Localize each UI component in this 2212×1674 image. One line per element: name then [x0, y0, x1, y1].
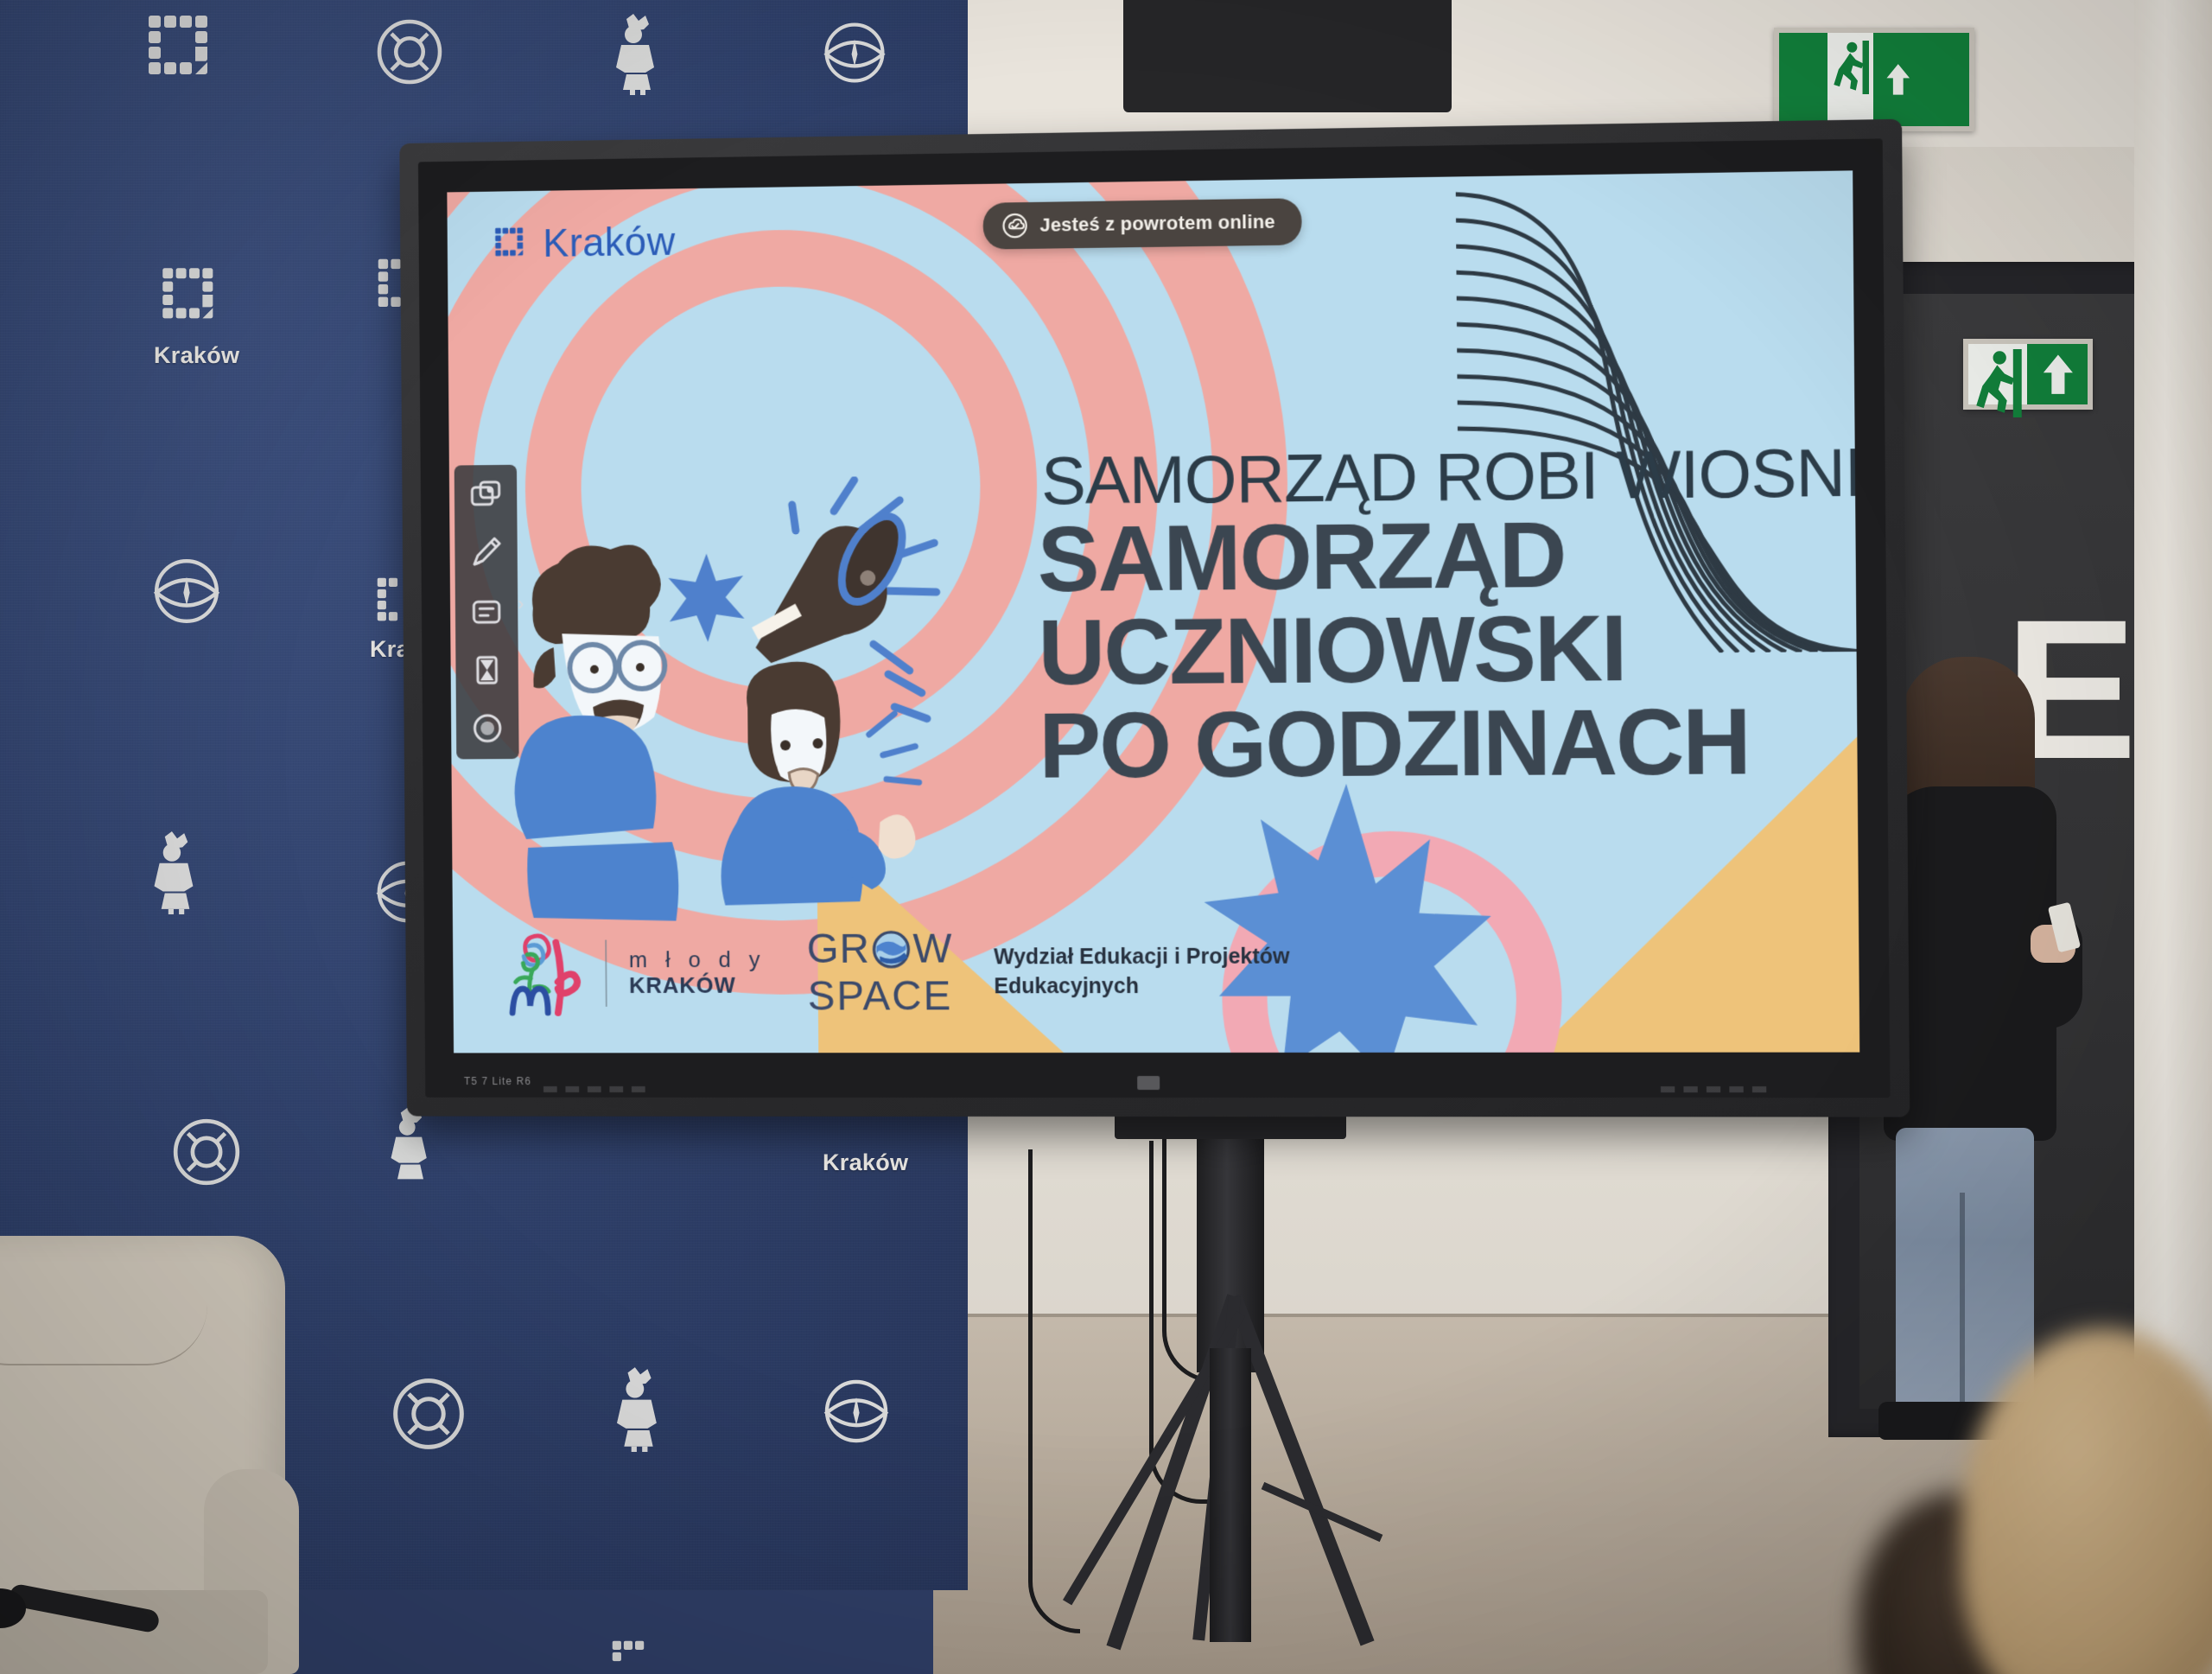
mlody-line: m ł o d y [629, 947, 766, 973]
exit-sign-running-man-panel [1827, 33, 1873, 126]
running-man-icon [1973, 349, 2022, 417]
display-model-label: T5 7 Lite R6 [464, 1075, 531, 1087]
armchair-seam [0, 1305, 207, 1365]
backdrop-label: Kraków [154, 342, 239, 369]
room-scene: E B [0, 0, 2212, 1674]
wheel-ornament-icon [389, 1374, 468, 1454]
display-bezel: Kraków Jesteś z powrotem online SAMORZĄD… [418, 138, 1891, 1098]
space-word: SPACE [808, 972, 953, 1020]
department-name: Wydział Edukacji i Projektów Edukacyjnyc… [994, 943, 1290, 1002]
hourglass-timer-icon[interactable] [468, 652, 505, 690]
department-line-1: Wydział Edukacji i Projektów [994, 943, 1290, 972]
emergency-exit-sign [1963, 339, 2093, 410]
wheel-ornament-icon [373, 16, 446, 88]
up-arrow-icon [1885, 46, 1911, 113]
wheel-ornament-icon [169, 1115, 244, 1189]
curly-hair-character [512, 544, 678, 921]
toast-message: Jesteś z powrotem online [1039, 211, 1275, 237]
presentation-slide: Kraków Jesteś z powrotem online SAMORZĄD… [447, 170, 1859, 1053]
grow-word-part-2: W [912, 926, 952, 973]
mlody-krakow-wordmark: m ł o d y KRAKÓW [629, 947, 766, 999]
mk-flower-logo-icon [505, 929, 584, 1018]
emergency-exit-sign [1774, 28, 1974, 131]
backdrop-label: Kraków [823, 1149, 908, 1176]
lajkonik-figure-icon [605, 12, 669, 95]
eye-in-circle-icon [149, 553, 225, 629]
headline-line-2: UCZNIOWSKI [1038, 600, 1749, 699]
exit-sign-running-man-panel [1968, 344, 2027, 404]
running-man-icon [1831, 41, 1869, 94]
interactive-display[interactable]: Kraków Jesteś z powrotem online SAMORZĄD… [399, 119, 1910, 1117]
pencil-annotate-icon[interactable] [467, 535, 505, 573]
display-brand-mark [1137, 1076, 1160, 1090]
slide-headline: SAMORZĄD UCZNIOWSKI PO GODZINACH [1037, 506, 1750, 792]
globe-icon [872, 929, 912, 969]
slide-footer-logos: m ł o d y KRAKÓW GR W [505, 925, 1291, 1021]
display-speaker-grille [543, 1086, 645, 1092]
exit-sign-cell [1923, 33, 1969, 126]
exit-sign-cell [1779, 33, 1825, 126]
department-line-2: Edukacyjnych [994, 972, 1290, 1002]
ceiling-soffit [1123, 0, 1452, 112]
lajkonik-figure-icon [380, 1106, 441, 1184]
power-cable [1028, 1149, 1080, 1633]
screen-capture-icon[interactable] [467, 477, 504, 515]
megaphone-icon [751, 506, 916, 663]
exit-sign-arrow-panel [2030, 344, 2088, 404]
cloud-check-icon [1002, 213, 1028, 239]
microphone-body [8, 1583, 161, 1634]
person-jeans [1896, 1128, 2034, 1413]
record-circle-icon[interactable] [468, 710, 505, 748]
krakow-logo-icon [605, 1633, 665, 1674]
up-arrow-icon [2042, 353, 2075, 396]
slide-brand-name: Kraków [543, 218, 676, 266]
logo-divider [605, 940, 607, 1007]
eye-in-circle-icon [819, 17, 890, 88]
lajkonik-figure-icon [143, 830, 208, 914]
blue-star-icon [668, 553, 744, 642]
headline-line-1: SAMORZĄD [1037, 506, 1748, 606]
eye-in-circle-icon [819, 1374, 893, 1448]
lajkonik-figure-icon [605, 1365, 672, 1452]
display-screen[interactable]: Kraków Jesteś z powrotem online SAMORZĄD… [447, 170, 1859, 1053]
headline-line-3: PO GODZINACH [1039, 694, 1750, 792]
grow-space-logo: GR W SPACE [807, 926, 953, 1021]
toolbar-collapse-handle[interactable]: › [518, 593, 524, 615]
stand-column-lower [1210, 1348, 1251, 1642]
exit-sign-arrow-panel [1876, 33, 1922, 126]
krakow-logo-icon [138, 5, 221, 88]
microphone [0, 1588, 173, 1632]
students-with-megaphone-illustration [500, 475, 981, 925]
krakow-logo-icon [491, 224, 530, 264]
display-speaker-grille [1661, 1086, 1766, 1092]
bob-hair-character [720, 661, 920, 906]
slide-brand-logo: Kraków [491, 218, 675, 267]
person-leg-seam [1960, 1193, 1965, 1409]
online-status-toast[interactable]: Jesteś z powrotem online [983, 198, 1302, 249]
krakow-logo-icon [154, 259, 225, 330]
grow-word-part-1: GR [807, 926, 871, 973]
note-document-icon[interactable] [467, 593, 505, 631]
krakow-line: KRAKÓW [629, 973, 766, 999]
display-floating-toolbar[interactable] [454, 465, 519, 760]
